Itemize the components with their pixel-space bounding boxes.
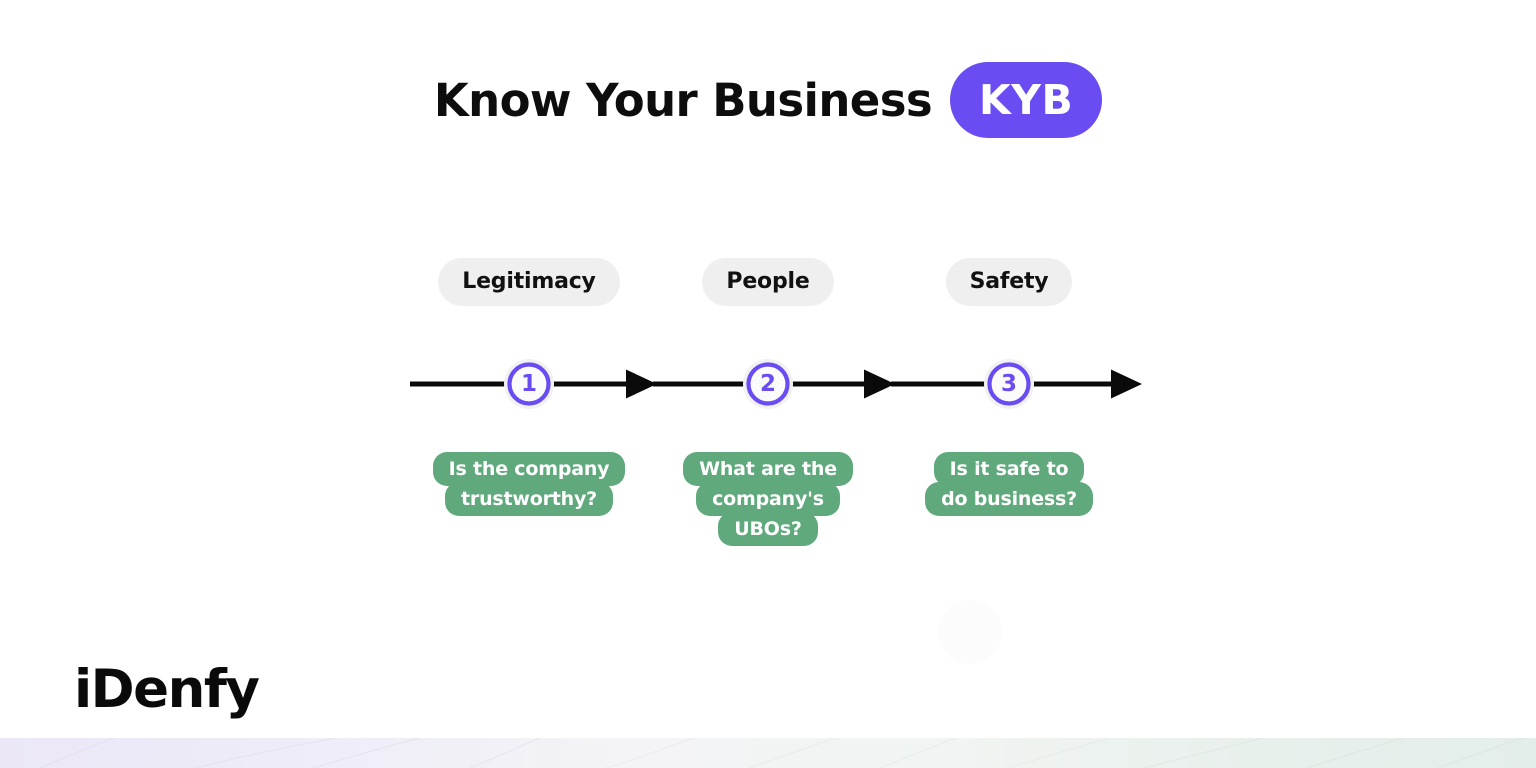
step-column-3: Safety: [889, 258, 1129, 306]
header-title-row: Know Your Business KYB: [0, 62, 1536, 138]
callout-line: Is it safe to: [934, 452, 1085, 486]
kyb-badge: KYB: [950, 62, 1102, 138]
step-marker-1-number: 1: [521, 371, 537, 397]
callout-line: company's: [696, 482, 840, 516]
chip-people: People: [702, 258, 833, 306]
chip-legitimacy-label: Legitimacy: [462, 271, 595, 293]
page-title: Know Your Business: [434, 78, 932, 123]
chip-people-label: People: [726, 271, 809, 293]
callout-line: Is the company: [433, 452, 626, 486]
step-marker-3-number: 3: [1001, 371, 1017, 397]
callout-line: trustworthy?: [445, 482, 613, 516]
footer-band-pattern: [0, 738, 1536, 768]
step-column-1: Legitimacy: [409, 258, 649, 306]
step-marker-1: 1: [504, 359, 554, 409]
callout-people: What are the company's UBOs?: [648, 452, 888, 546]
timeline-arrow: 1 2 3: [395, 352, 1145, 416]
watermark-circle: [938, 600, 1002, 664]
kyb-badge-label: KYB: [979, 80, 1073, 121]
chip-safety-label: Safety: [970, 271, 1049, 293]
callout-line: UBOs?: [718, 512, 817, 546]
idenfy-logo: iDenfy: [74, 663, 258, 716]
step-column-2: People: [648, 258, 888, 306]
callout-line: do business?: [925, 482, 1093, 516]
infographic-canvas: Know Your Business KYB Legitimacy People…: [0, 0, 1536, 768]
chip-legitimacy: Legitimacy: [438, 258, 619, 306]
chip-safety: Safety: [946, 258, 1073, 306]
step-marker-2: 2: [743, 359, 793, 409]
footer-gradient-band: [0, 738, 1536, 768]
idenfy-logo-text: iDenfy: [74, 659, 258, 720]
step-marker-2-number: 2: [760, 371, 776, 397]
callout-line: What are the: [683, 452, 853, 486]
step-marker-3: 3: [984, 359, 1034, 409]
callout-safety: Is it safe to do business?: [889, 452, 1129, 516]
callout-legitimacy: Is the company trustworthy?: [409, 452, 649, 516]
